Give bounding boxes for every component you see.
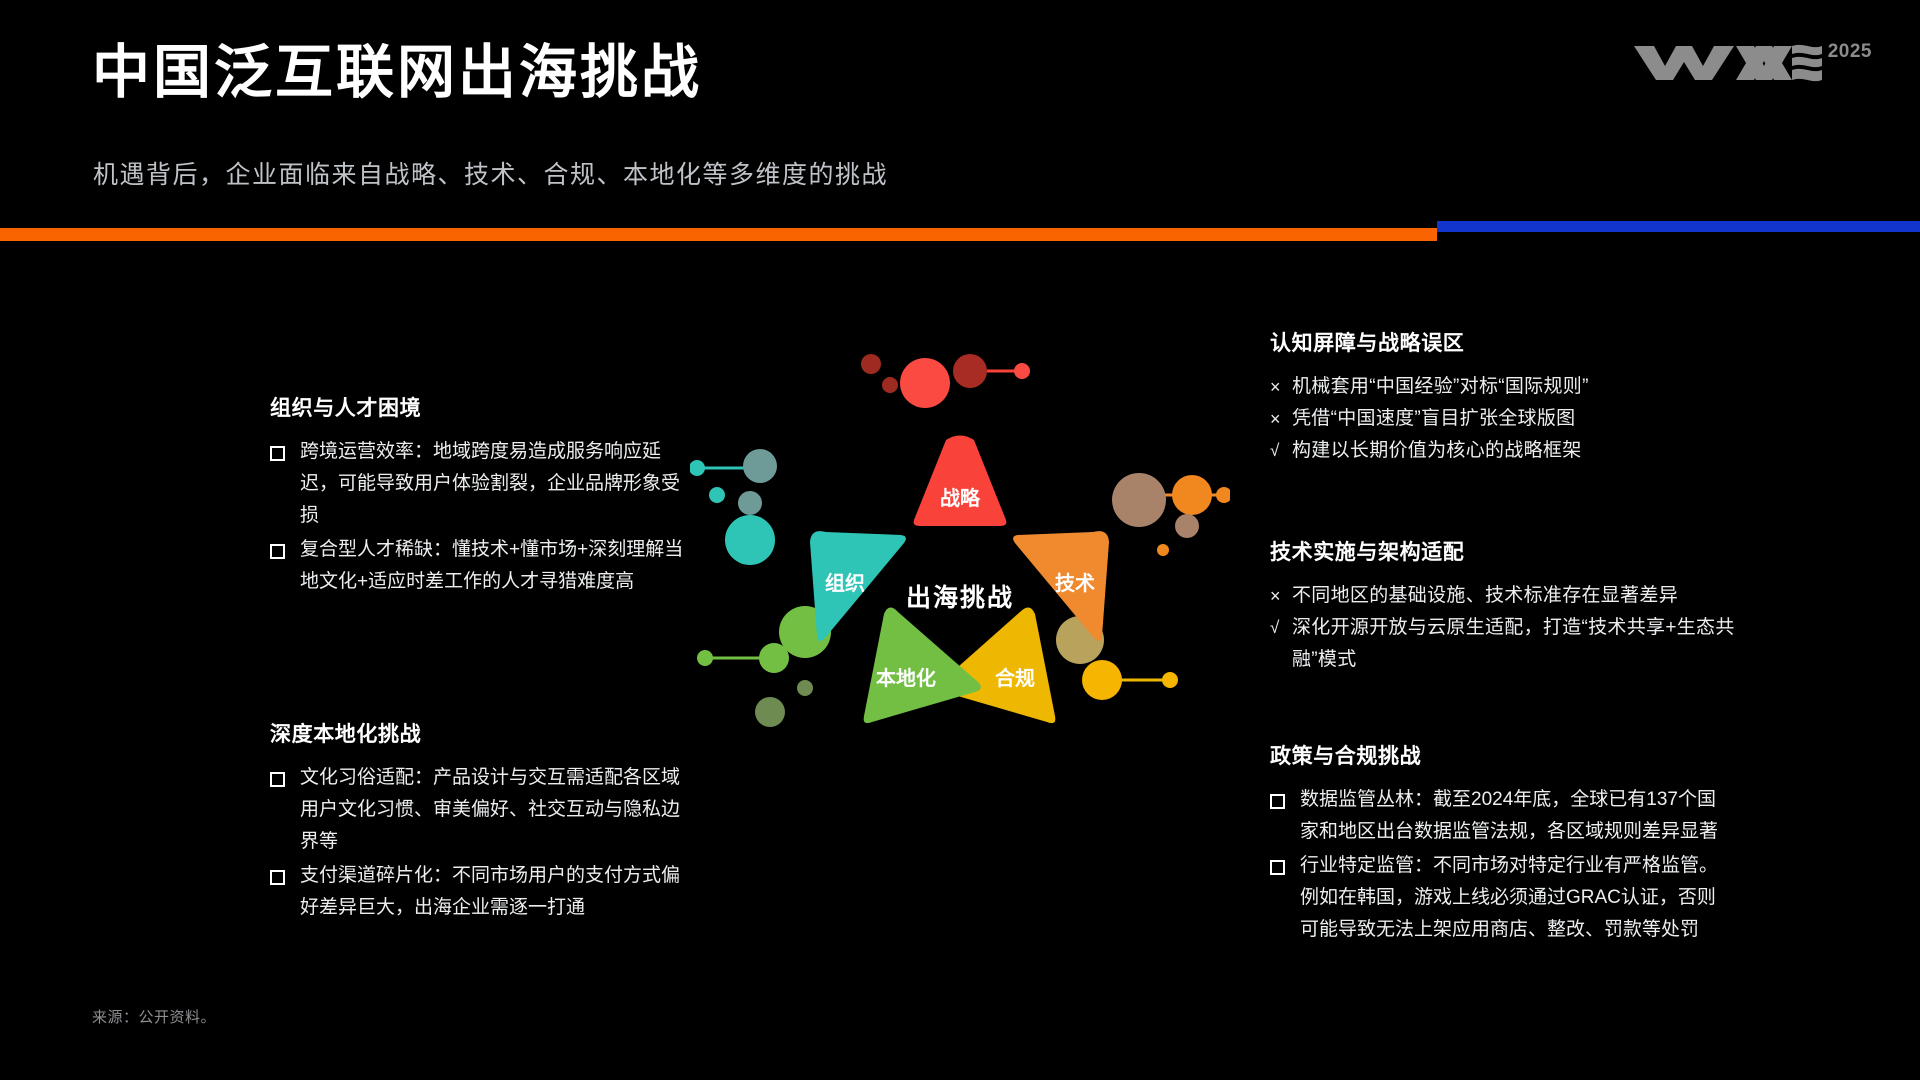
cross-mark-icon: × [1270,403,1292,435]
footer-source: 来源：公开资料。 [92,1006,216,1027]
block-localization-title: 深度本地化挑战 [270,718,690,748]
list-item: × 机械套用“中国经验”对标“国际规则” [1270,371,1740,403]
square-bullet-icon [270,534,300,559]
block-localization: 深度本地化挑战 文化习俗适配：产品设计与交互需适配各区域用户文化习惯、审美偏好、… [270,718,690,926]
star-point-strategy-label: 战略 [940,486,981,510]
block-cognition-title: 认知屏障与战略误区 [1270,327,1740,357]
list-item: × 不同地区的基础设施、技术标准存在显著差异 [1270,580,1740,612]
square-bullet-icon [270,762,300,787]
wave-logo: 2025 [1632,40,1872,84]
star-diagram: 战略 技术 合规 本地化 组织 [690,340,1230,800]
list-item-text: 数据监管丛林：截至2024年底，全球已有137个国家和地区出台数据监管法规，各区… [1300,784,1720,848]
list-item: √ 构建以长期价值为核心的战略框架 [1270,435,1740,467]
list-item-text: 不同地区的基础设施、技术标准存在显著差异 [1292,580,1740,612]
dot-cluster-localization [697,606,831,727]
list-item: 数据监管丛林：截至2024年底，全球已有137个国家和地区出台数据监管法规，各区… [1270,784,1720,848]
list-item-text: 行业特定监管：不同市场对特定行业有严格监管。例如在韩国，游戏上线必须通过GRAC… [1300,850,1720,946]
cross-mark-icon: × [1270,580,1292,612]
list-item: √ 深化开源开放与云原生适配，打造“技术共享+生态共融”模式 [1270,612,1740,676]
list-item-text: 文化习俗适配：产品设计与交互需适配各区域用户文化习惯、审美偏好、社交互动与隐私边… [300,762,690,858]
list-item-text: 跨境运营效率：地域跨度易造成服务响应延迟，可能导致用户体验割裂，企业品牌形象受损 [300,436,690,532]
list-item-text: 机械套用“中国经验”对标“国际规则” [1292,371,1740,403]
list-item: 跨境运营效率：地域跨度易造成服务响应延迟，可能导致用户体验割裂，企业品牌形象受损 [270,436,690,532]
check-mark-icon: √ [1270,612,1292,644]
dot-cluster-strategy [861,354,1030,408]
star-point-technology-label: 技术 [1055,571,1095,595]
block-technology-title: 技术实施与架构适配 [1270,536,1740,566]
star-point-strategy[interactable]: 战略 [914,436,1007,527]
star-point-compliance-label: 合规 [995,666,1035,690]
list-item: × 凭借“中国速度”盲目扩张全球版图 [1270,403,1740,435]
block-policy-title: 政策与合规挑战 [1270,740,1720,770]
page-title: 中国泛互联网出海挑战 [92,40,702,107]
slide-root: 中国泛互联网出海挑战 机遇背后，企业面临来自战略、技术、合规、本地化等多维度的挑… [0,0,1920,1080]
check-mark-icon: √ [1270,435,1292,467]
list-item: 复合型人才稀缺：懂技术+懂市场+深刻理解当地文化+适应时差工作的人才寻猎难度高 [270,534,690,598]
square-bullet-icon [270,860,300,885]
list-item: 支付渠道碎片化：不同市场用户的支付方式偏好差异巨大，出海企业需逐一打通 [270,860,690,924]
dot-cluster-technology [1112,473,1230,556]
dot-cluster-organization [690,449,777,565]
block-organization: 组织与人才困境 跨境运营效率：地域跨度易造成服务响应延迟，可能导致用户体验割裂，… [270,392,690,600]
star-point-organization-label: 组织 [825,571,865,595]
list-item-text: 支付渠道碎片化：不同市场用户的支付方式偏好差异巨大，出海企业需逐一打通 [300,860,690,924]
list-item: 文化习俗适配：产品设计与交互需适配各区域用户文化习惯、审美偏好、社交互动与隐私边… [270,762,690,858]
block-organization-title: 组织与人才困境 [270,392,690,422]
block-policy: 政策与合规挑战 数据监管丛林：截至2024年底，全球已有137个国家和地区出台数… [1270,740,1720,948]
list-item-text: 深化开源开放与云原生适配，打造“技术共享+生态共融”模式 [1292,612,1740,676]
block-technology: 技术实施与架构适配 × 不同地区的基础设施、技术标准存在显著差异 √ 深化开源开… [1270,536,1740,676]
cross-mark-icon: × [1270,371,1292,403]
list-item: 行业特定监管：不同市场对特定行业有严格监管。例如在韩国，游戏上线必须通过GRAC… [1270,850,1720,946]
list-item-text: 复合型人才稀缺：懂技术+懂市场+深刻理解当地文化+适应时差工作的人才寻猎难度高 [300,534,690,598]
square-bullet-icon [1270,784,1300,809]
page-subtitle: 机遇背后，企业面临来自战略、技术、合规、本地化等多维度的挑战 [93,155,888,191]
logo-year: 2025 [1828,42,1872,61]
wave-wordmark-icon [1632,40,1822,84]
block-cognition: 认知屏障与战略误区 × 机械套用“中国经验”对标“国际规则” × 凭借“中国速度… [1270,327,1740,467]
square-bullet-icon [270,436,300,461]
list-item-text: 构建以长期价值为核心的战略框架 [1292,435,1740,467]
divider-bar-blue [1437,221,1920,232]
divider-bar-orange [0,228,1437,241]
star-point-localization-label: 本地化 [876,666,936,690]
square-bullet-icon [1270,850,1300,875]
list-item-text: 凭借“中国速度”盲目扩张全球版图 [1292,403,1740,435]
